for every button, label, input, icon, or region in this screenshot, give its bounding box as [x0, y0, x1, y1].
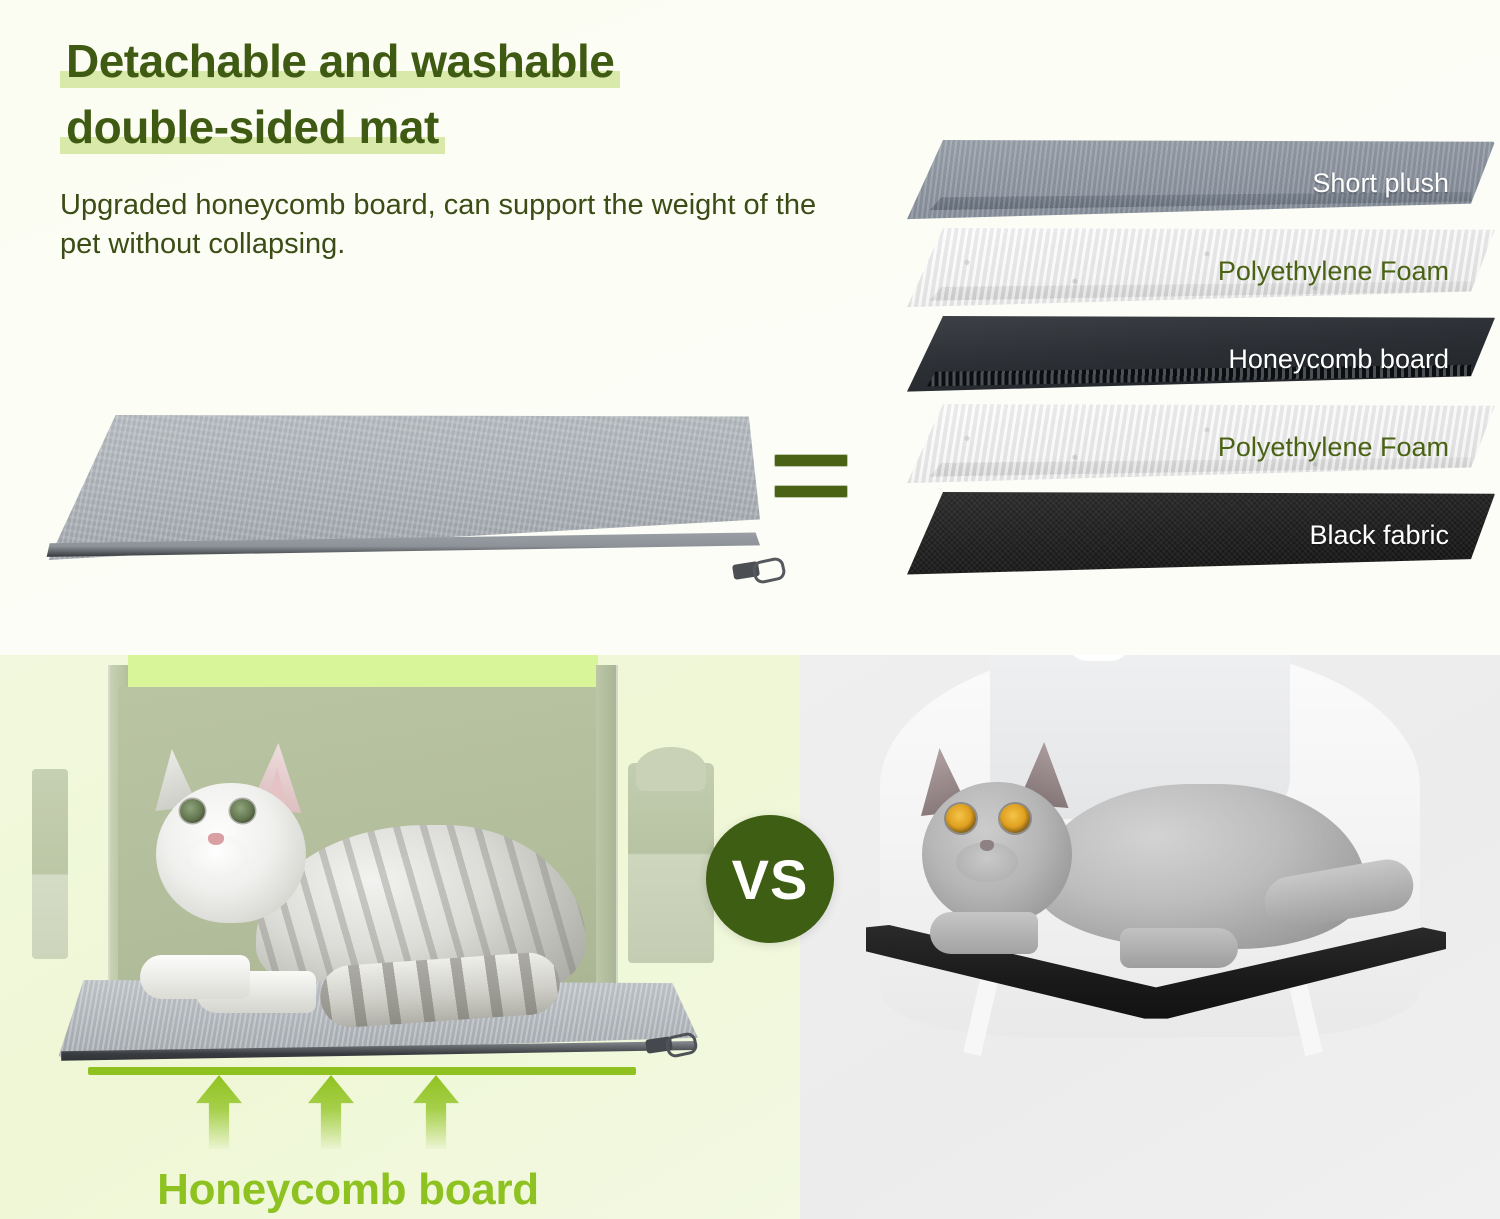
layer-label-foam-top: Polyethylene Foam [1218, 256, 1495, 287]
zipper-ring [751, 556, 787, 585]
layer-black-fabric: Black fabric [895, 492, 1495, 578]
gray-cat-eye-right [1000, 804, 1030, 833]
silver-tabby-cat [138, 733, 618, 1033]
cat-nose [208, 833, 224, 845]
vs-badge: VS [706, 815, 834, 943]
gray-cat-nose [980, 840, 994, 851]
product-mat-image [15, 415, 805, 605]
heading-block: Detachable and washable double-sided mat… [60, 38, 880, 265]
label-honeycomb-board: Honeycomb board [88, 1165, 608, 1215]
equals-bar-top [775, 455, 847, 466]
zipper-pull-icon [733, 557, 785, 585]
gray-cat-eye-left [946, 804, 976, 833]
mat-top-face [15, 415, 805, 605]
headline-text-1: Detachable and washable [66, 35, 614, 87]
layer-short-plush: Short plush [895, 140, 1495, 226]
comparison-panel-left: Honeycomb board [0, 655, 800, 1219]
gray-cat [908, 742, 1408, 1022]
layer-honeycomb-board: Honeycomb board [895, 316, 1495, 402]
carrier-side-pocket [628, 763, 714, 963]
carrier-side-strap [32, 769, 68, 959]
subheading-text: Upgraded honeycomb board, can support th… [60, 186, 850, 265]
layer-label-honeycomb: Honeycomb board [1228, 344, 1495, 375]
flat-mat-zipper-icon [646, 1032, 698, 1060]
layer-foam-bottom: Polyethylene Foam [895, 404, 1495, 490]
cat-eye-left [180, 799, 205, 823]
cat-paw-front [140, 955, 250, 999]
equals-bar-bottom [775, 486, 847, 497]
headline-text-2: double-sided mat [66, 101, 439, 153]
cat-eye-right [230, 799, 255, 823]
layer-foam-top: Polyethylene Foam [895, 228, 1495, 314]
product-infographic: Detachable and washable double-sided mat… [0, 0, 1500, 1219]
headline-line-2: double-sided mat [60, 104, 445, 152]
flat-mat-zipper-ring [664, 1031, 699, 1059]
equals-sign-icon [775, 455, 855, 515]
layer-label-black-fabric: Black fabric [1309, 520, 1495, 551]
layer-label-foam-bottom: Polyethylene Foam [1218, 432, 1495, 463]
material-layer-stack: Short plush Polyethylene Foam Honeycomb … [895, 140, 1495, 590]
gray-cat-paw-rear [1120, 928, 1238, 968]
top-section: Detachable and washable double-sided mat… [0, 0, 1500, 655]
gray-cat-paw-front [930, 912, 1038, 954]
headline-line-1: Detachable and washable [60, 38, 620, 86]
layer-label-short-plush: Short plush [1312, 168, 1495, 199]
